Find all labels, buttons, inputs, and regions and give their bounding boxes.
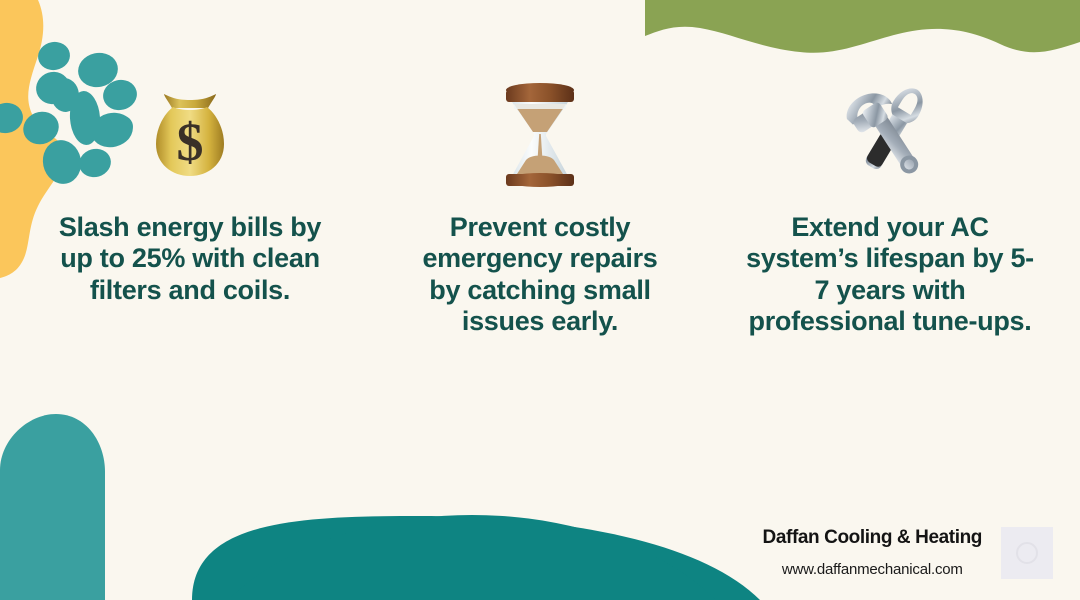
money-bag-icon: $ <box>142 78 238 190</box>
benefit-cards: $ Slash energy bills by up to 25% with c… <box>0 78 1080 337</box>
benefit-card-extend-lifespan: Extend your AC system’s lifespan by 5-7 … <box>730 78 1050 337</box>
hammer-and-wrench-icon <box>832 78 948 190</box>
brand-website[interactable]: www.daffanmechanical.com <box>782 560 963 580</box>
footer-branding: Daffan Cooling & Heating www.daffanmecha… <box>763 522 1058 584</box>
hourglass-icon <box>497 78 583 190</box>
footer-text-block: Daffan Cooling & Heating www.daffanmecha… <box>763 526 982 579</box>
benefit-card-prevent-repairs: Prevent costly emergency repairs by catc… <box>380 78 700 337</box>
svg-text:$: $ <box>177 112 204 172</box>
benefit-card-text: Extend your AC system’s lifespan by 5-7 … <box>744 212 1036 337</box>
logo-placeholder-icon <box>1016 542 1038 564</box>
benefit-card-text: Prevent costly emergency repairs by catc… <box>406 212 674 337</box>
brand-name: Daffan Cooling & Heating <box>763 526 982 551</box>
logo-placeholder <box>996 522 1058 584</box>
benefit-card-energy-bills: $ Slash energy bills by up to 25% with c… <box>30 78 350 306</box>
benefit-card-text: Slash energy bills by up to 25% with cle… <box>40 212 340 306</box>
content-layer: $ Slash energy bills by up to 25% with c… <box>0 0 1080 600</box>
infographic-canvas: $ Slash energy bills by up to 25% with c… <box>0 0 1080 600</box>
